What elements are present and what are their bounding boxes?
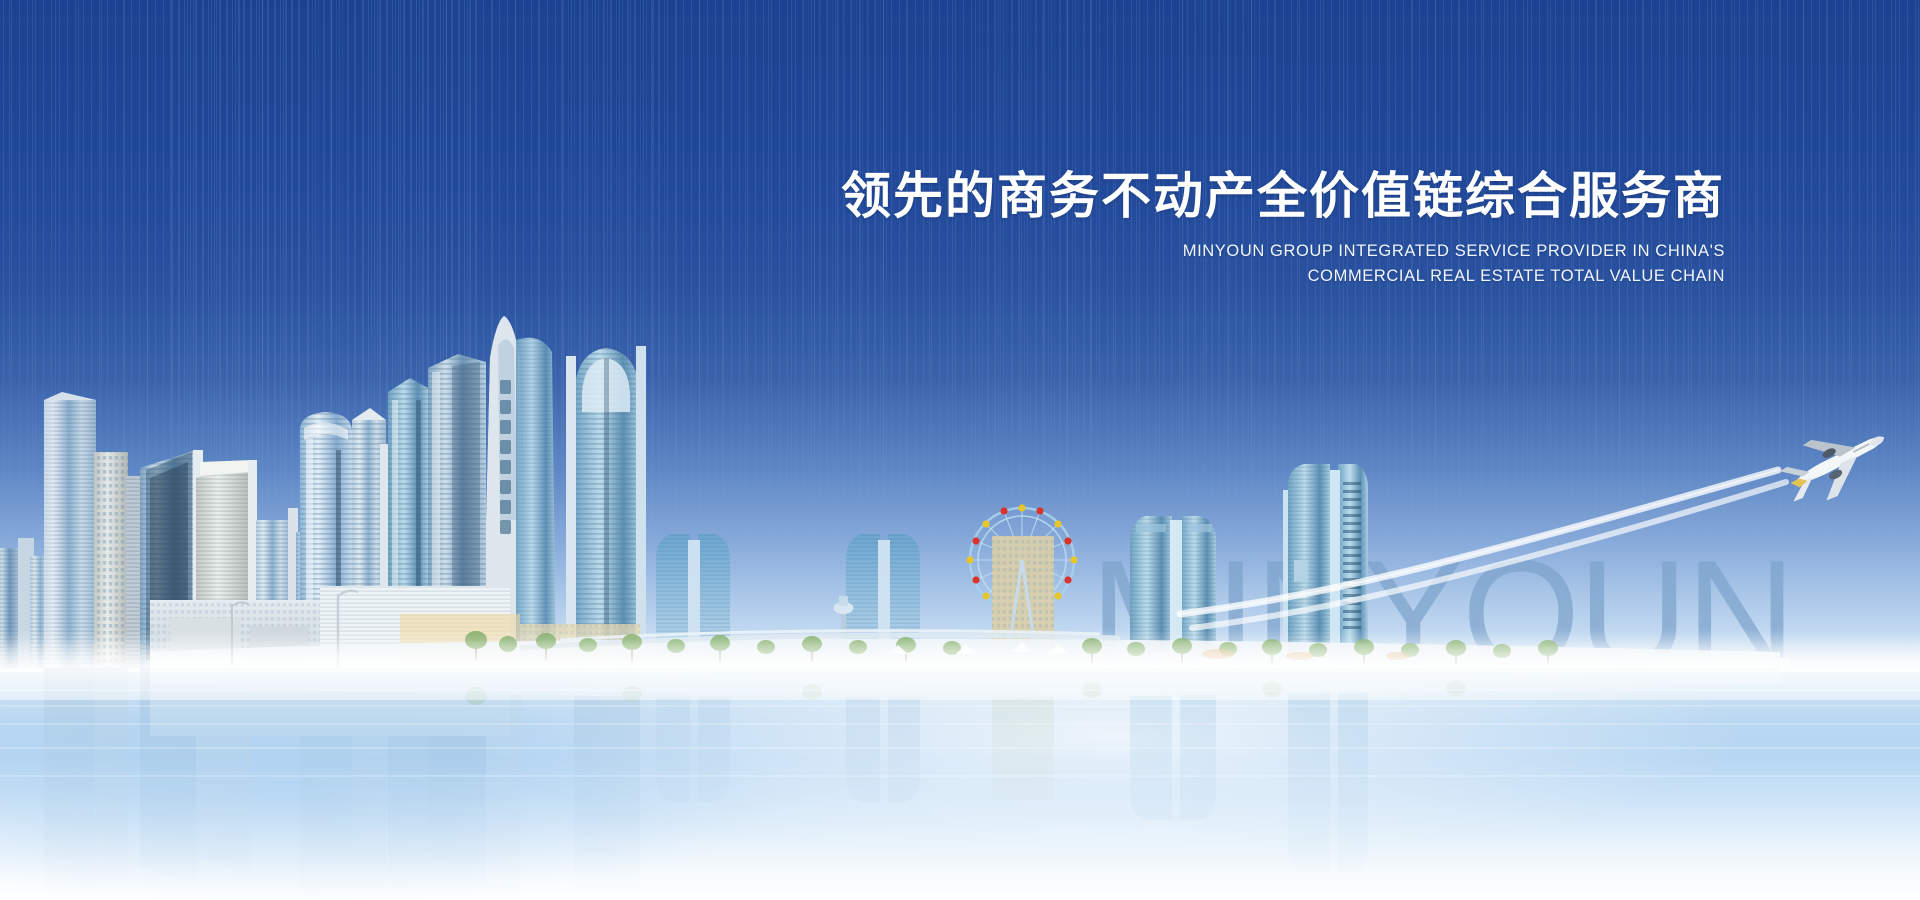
subtitle-line-2: COMMERCIAL REAL ESTATE TOTAL VALUE CHAIN [841,265,1725,287]
water-sheen [0,665,1920,900]
streak-cluster-2 [310,0,350,700]
streak-cluster-1 [170,0,300,700]
subtitle-line-1: MINYOUN GROUP INTEGRATED SERVICE PROVIDE… [841,240,1725,262]
streak-cluster-5 [800,0,890,700]
streak-cluster-3 [360,0,480,700]
hero-banner: MINYOUN 领先的商务不动产全价值链综合服务商 [0,0,1920,900]
streak-cluster-4 [560,0,670,700]
banner-text-block: 领先的商务不动产全价值链综合服务商 MINYOUN GROUP INTEGRAT… [841,168,1725,288]
horizon-haze [0,640,1920,700]
page-title: 领先的商务不动产全价值链综合服务商 [841,168,1725,224]
streak-cluster-6 [980,0,1100,700]
